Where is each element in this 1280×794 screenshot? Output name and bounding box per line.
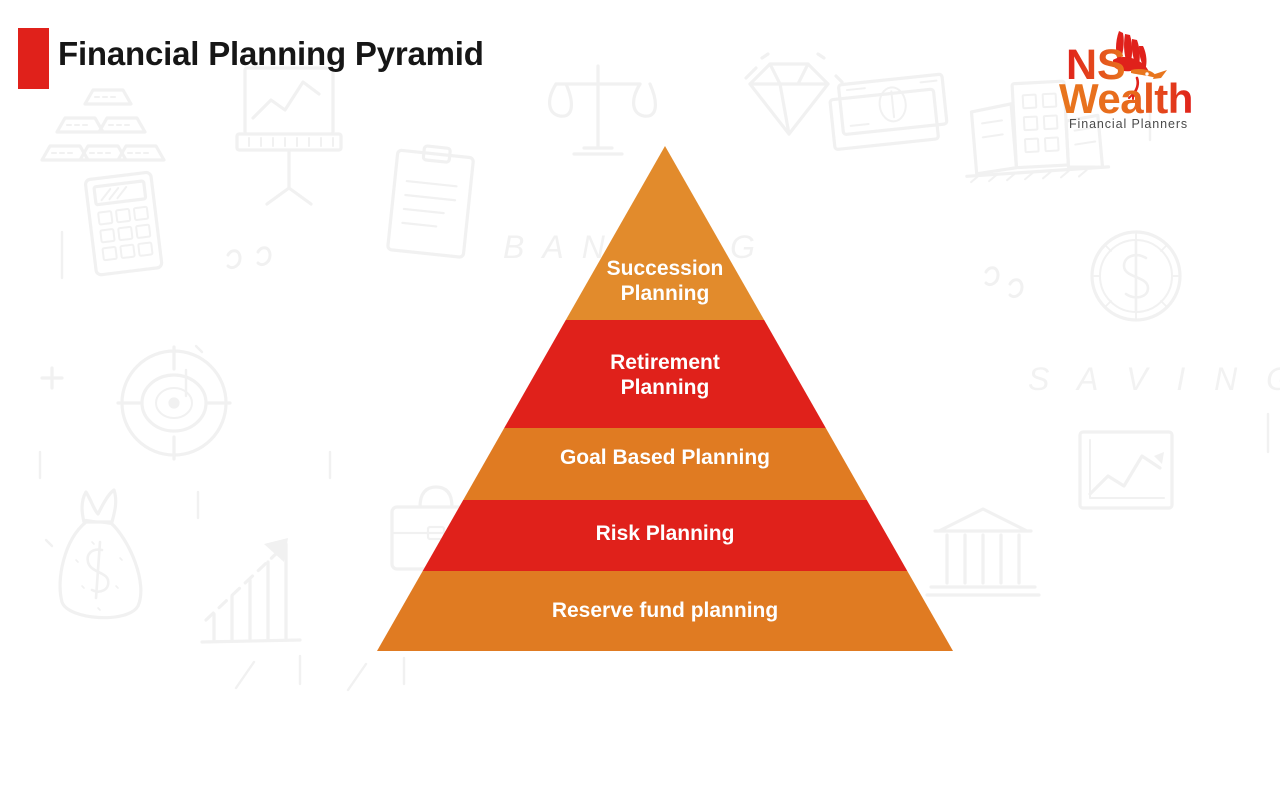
pyramid-level-5-label: Reserve fund planning	[420, 599, 910, 624]
slide-canvas: BANKING S A V I N G Financial Planning P…	[0, 0, 1280, 794]
pyramid-level-1-label: Succession Planning	[465, 257, 865, 306]
pyramid-level-4-label: Risk Planning	[465, 522, 865, 547]
logo-text-wealth: Wealth	[1059, 75, 1193, 122]
logo-tagline: Financial Planners	[1069, 117, 1188, 131]
brand-logo[interactable]: NS Wealth Financial Planners	[1045, 26, 1225, 132]
page-title: Financial Planning Pyramid	[58, 35, 484, 73]
pyramid-level-2-label: Retirement Planning	[465, 351, 865, 400]
pyramid-level-3-label: Goal Based Planning	[465, 446, 865, 471]
title-accent-bar	[18, 28, 49, 89]
